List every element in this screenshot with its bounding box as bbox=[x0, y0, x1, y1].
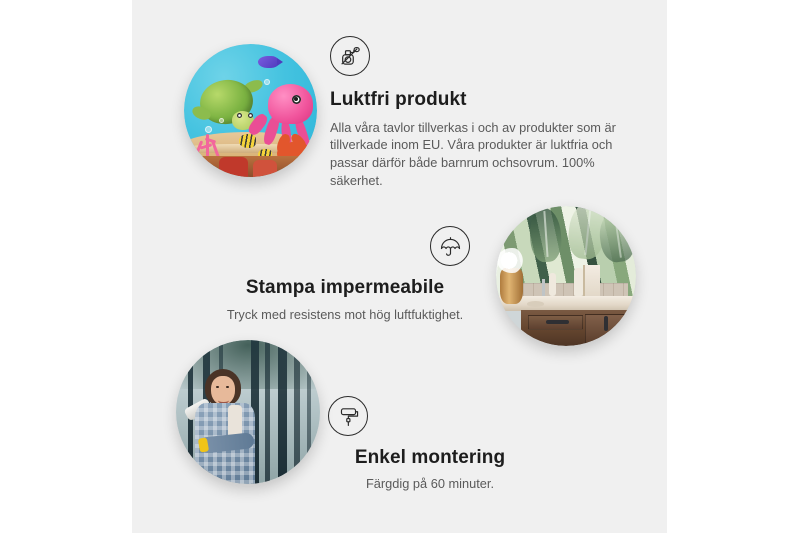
vanity-door bbox=[585, 314, 631, 344]
soap-dispenser bbox=[549, 273, 556, 295]
red-furniture-2 bbox=[253, 160, 277, 177]
feature-odour-body: Alla våra tavlor tillverkas i och av pro… bbox=[330, 119, 630, 189]
bathroom-art bbox=[496, 206, 636, 346]
octopus-head bbox=[268, 84, 313, 124]
tree-6 bbox=[278, 340, 287, 484]
gold-vase bbox=[500, 268, 522, 304]
feature-mounting-icon-wrap bbox=[300, 396, 560, 446]
feature-mounting-title: Enkel montering bbox=[300, 446, 560, 470]
soap-dish bbox=[527, 301, 544, 307]
faucet bbox=[542, 279, 545, 297]
image-woman-with-paint-roller bbox=[176, 340, 320, 484]
feature-odour-free: Luktfri produkt Alla våra tavlor tillver… bbox=[330, 36, 630, 189]
paint-roller-icon bbox=[328, 396, 368, 436]
image-underwater-children-mural bbox=[184, 44, 317, 177]
feature-waterproof-body: Tryck med resistens mot hög luftfuktighe… bbox=[200, 306, 490, 324]
drawer-handle bbox=[546, 320, 569, 324]
feature-waterproof-icon-wrap bbox=[200, 226, 490, 276]
turtle-eye-right bbox=[248, 113, 253, 118]
feature-easy-mounting: Enkel montering Färgdig på 60 minuter. bbox=[300, 396, 560, 492]
umbrella-icon bbox=[430, 226, 470, 266]
door-handle bbox=[604, 316, 608, 331]
image-bathroom-tropical-wallpaper bbox=[496, 206, 636, 346]
forest-installer-art bbox=[176, 340, 320, 484]
white-flowers bbox=[497, 248, 526, 273]
lotion-bottle bbox=[574, 268, 582, 296]
tree-5 bbox=[265, 340, 270, 484]
feature-odour-icon-wrap bbox=[330, 36, 630, 76]
leaf-1 bbox=[528, 207, 562, 263]
yellow-fish-1 bbox=[239, 134, 256, 147]
sea-mural-art bbox=[184, 44, 317, 177]
screenshot-root: Luktfri produkt Alla våra tavlor tillver… bbox=[0, 0, 800, 533]
feature-waterproof-title: Stampa impermeabile bbox=[200, 276, 490, 300]
feature-waterproof-print: Stampa impermeabile Tryck med resistens … bbox=[200, 226, 490, 323]
no-perfume-icon bbox=[330, 36, 370, 76]
bubble-3 bbox=[264, 79, 270, 85]
blue-fish bbox=[258, 56, 278, 68]
wood-vanity bbox=[521, 310, 636, 346]
feature-mounting-body: Färgdig på 60 minuter. bbox=[300, 475, 560, 493]
room-floor-strip bbox=[184, 156, 317, 177]
octopus-eye bbox=[292, 95, 301, 104]
red-furniture-1 bbox=[219, 157, 248, 177]
feature-odour-title: Luktfri produkt bbox=[330, 88, 630, 112]
